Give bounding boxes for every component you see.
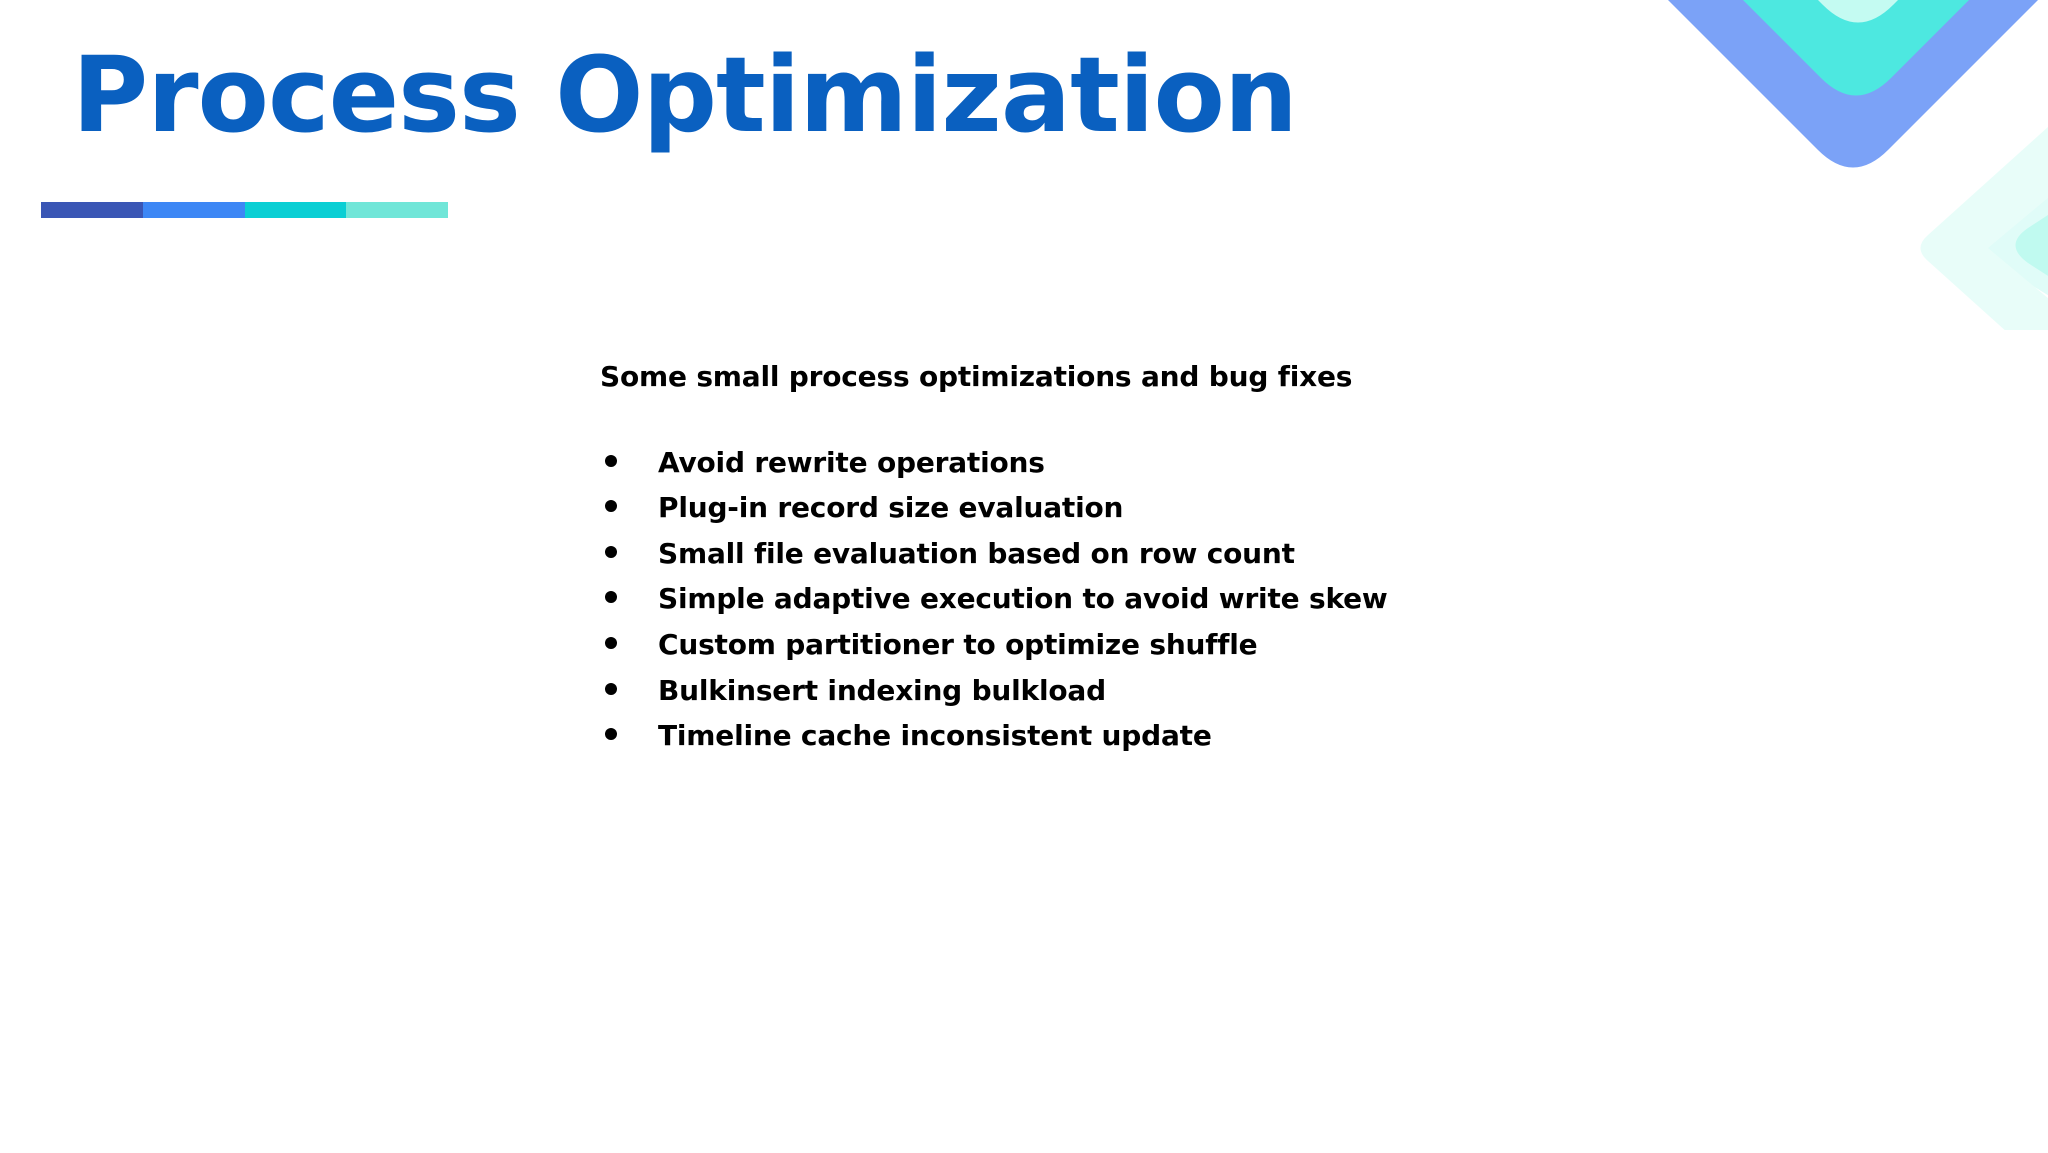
bullet-item: Simple adaptive execution to avoid write…	[600, 582, 1750, 616]
chevron-small-mint-icon	[2016, 150, 2048, 330]
bullet-item: Small file evaluation based on row count	[600, 537, 1750, 571]
bullet-item: Timeline cache inconsistent update	[600, 719, 1750, 753]
bullet-item: Avoid rewrite operations	[600, 446, 1750, 480]
bullet-item-label: Timeline cache inconsistent update	[658, 719, 1212, 753]
accent-segment-dark-blue	[41, 202, 143, 218]
bullet-list: Avoid rewrite operationsPlug-in record s…	[600, 446, 1750, 753]
accent-segment-mint	[346, 202, 448, 218]
accent-segment-bright-blue	[143, 202, 245, 218]
bullet-item-label: Plug-in record size evaluation	[658, 491, 1123, 525]
bullet-item-label: Simple adaptive execution to avoid write…	[658, 582, 1388, 616]
bullet-item: Custom partitioner to optimize shuffle	[600, 628, 1750, 662]
bullet-item-label: Avoid rewrite operations	[658, 446, 1045, 480]
chevron-middle-cyan-icon	[1663, 0, 2048, 96]
chevron-inner-mint-icon	[1718, 0, 1998, 23]
bullet-point-icon	[605, 728, 617, 740]
chevron-outer-periwinkle-icon	[1628, 0, 2048, 168]
bullet-item-label: Bulkinsert indexing bulkload	[658, 674, 1106, 708]
chevron-small-backdrop-icon	[1921, 118, 2048, 330]
bullet-item-label: Custom partitioner to optimize shuffle	[658, 628, 1257, 662]
chevron-small-pale-mint-icon	[1973, 130, 2048, 330]
accent-bar	[41, 202, 448, 218]
bullet-item: Bulkinsert indexing bulkload	[600, 674, 1750, 708]
content-heading: Some small process optimizations and bug…	[600, 360, 1750, 394]
bullet-item-label: Small file evaluation based on row count	[658, 537, 1295, 571]
bullet-point-icon	[605, 500, 617, 512]
slide-canvas: Process Optimization Some small process …	[0, 0, 2048, 1153]
bullet-point-icon	[605, 455, 617, 467]
content-block: Some small process optimizations and bug…	[600, 360, 1750, 753]
accent-segment-cyan	[245, 202, 347, 218]
bullet-item: Plug-in record size evaluation	[600, 491, 1750, 525]
page-title: Process Optimization	[72, 38, 1297, 152]
bullet-point-icon	[605, 591, 617, 603]
nested-chevron-graphic	[1628, 0, 2048, 330]
bullet-point-icon	[605, 637, 617, 649]
bullet-point-icon	[605, 546, 617, 558]
bullet-point-icon	[605, 683, 617, 695]
